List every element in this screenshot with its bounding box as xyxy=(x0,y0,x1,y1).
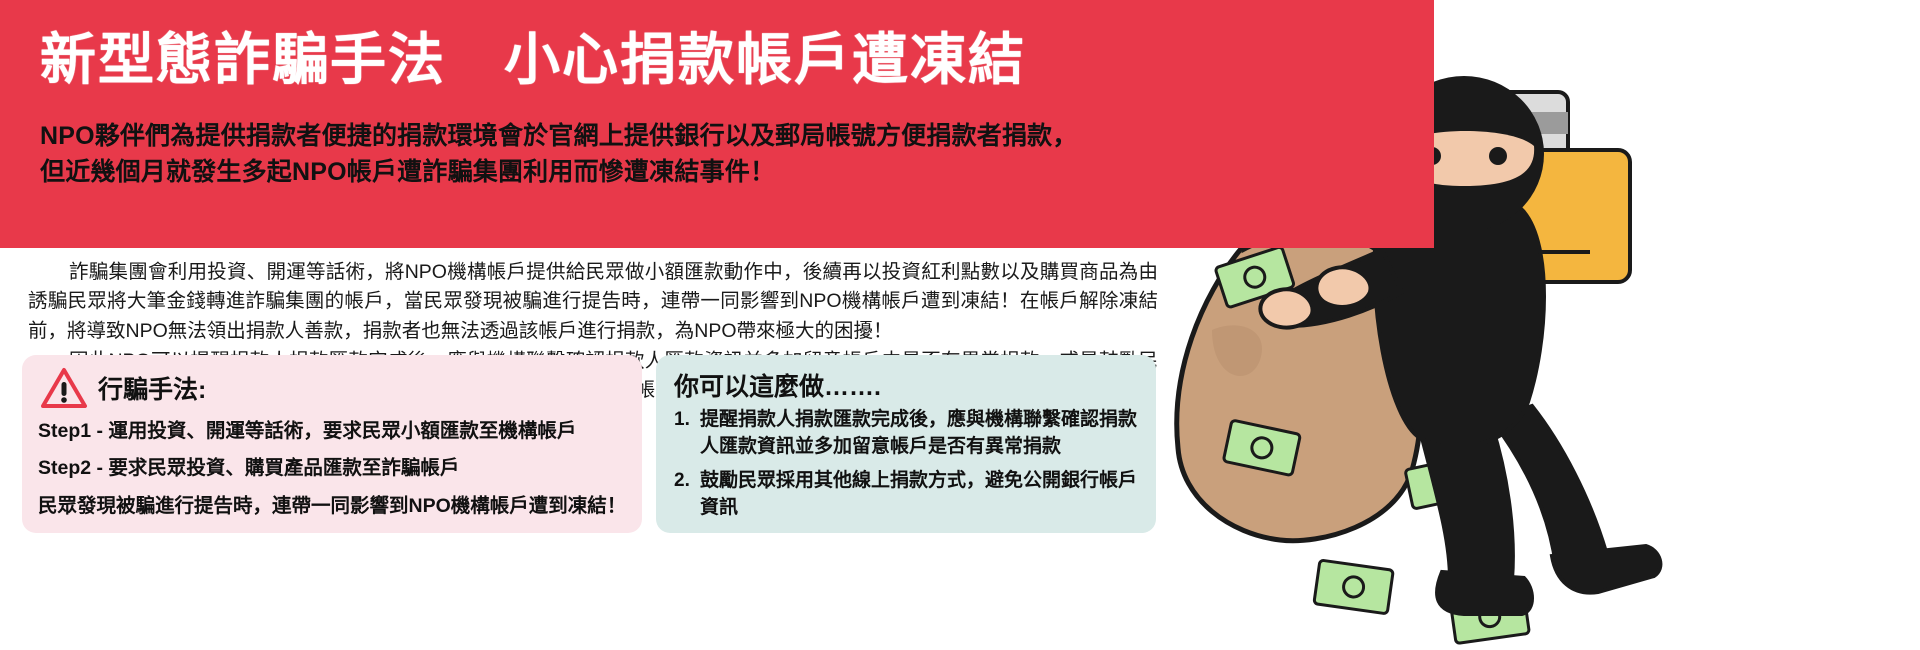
body-paragraph-1: 詐騙集團會利用投資、開運等話術，將NPO機構帳戶提供給民眾做小額匯款動作中，後續… xyxy=(28,258,1158,346)
scam-method-steps: Step1 - 運用投資、開運等話術，要求民眾小額匯款至機構帳戶 Step2 -… xyxy=(22,409,642,520)
scam-method-title: 行騙手法: xyxy=(98,370,206,406)
advice-box: 你可以這麼做……. 1. 提醒捐款人捐款匯款完成後，應與機構聯繫確認捐款人匯款資… xyxy=(656,355,1156,533)
advice-header: 你可以這麼做……. xyxy=(656,355,1156,403)
page-title: 新型態詐騙手法 小心捐款帳戶遭凍結 xyxy=(40,28,1026,92)
warning-triangle-icon xyxy=(40,367,88,409)
header-subtitle-line2: 但近幾個月就發生多起NPO帳戶遭詐騙集團利用而慘遭凍結事件！ xyxy=(40,154,1220,190)
advice-list-item: 1. 提醒捐款人捐款匯款完成後，應與機構聯繫確認捐款人匯款資訊並多加留意帳戶是否… xyxy=(674,407,1140,461)
advice-item-1-number: 1. xyxy=(674,407,700,461)
advice-item-2-text: 鼓勵民眾採用其他線上捐款方式，避免公開銀行帳戶資訊 xyxy=(700,468,1140,522)
advice-list: 1. 提醒捐款人捐款匯款完成後，應與機構聯繫確認捐款人匯款資訊並多加留意帳戶是否… xyxy=(656,403,1156,522)
header-band: 新型態詐騙手法 小心捐款帳戶遭凍結 NPO夥伴們為提供捐款者便捷的捐款環境會於官… xyxy=(0,0,1434,248)
advice-title: 你可以這麼做……. xyxy=(674,367,881,403)
scam-step-2: Step2 - 要求民眾投資、購買產品匯款至詐騙帳戶 xyxy=(38,454,628,482)
advice-item-2-number: 2. xyxy=(674,468,700,522)
infographic-poster: 新型態詐騙手法 小心捐款帳戶遭凍結 NPO夥伴們為提供捐款者便捷的捐款環境會於官… xyxy=(0,0,1920,650)
advice-item-1-text: 提醒捐款人捐款匯款完成後，應與機構聯繫確認捐款人匯款資訊並多加留意帳戶是否有異常… xyxy=(700,407,1140,461)
advice-list-item: 2. 鼓勵民眾採用其他線上捐款方式，避免公開銀行帳戶資訊 xyxy=(674,468,1140,522)
scam-step-1: Step1 - 運用投資、開運等話術，要求民眾小額匯款至機構帳戶 xyxy=(38,417,628,445)
scam-step-3: 民眾發現被騙進行提告時，連帶一同影響到NPO機構帳戶遭到凍結！ xyxy=(38,492,628,520)
scam-method-box: 行騙手法: Step1 - 運用投資、開運等話術，要求民眾小額匯款至機構帳戶 S… xyxy=(22,355,642,533)
header-subtitle: NPO夥伴們為提供捐款者便捷的捐款環境會於官網上提供銀行以及郵局帳號方便捐款者捐… xyxy=(40,118,1220,191)
header-subtitle-line1: NPO夥伴們為提供捐款者便捷的捐款環境會於官網上提供銀行以及郵局帳號方便捐款者捐… xyxy=(40,118,1220,154)
scam-method-header: 行騙手法: xyxy=(22,355,642,409)
